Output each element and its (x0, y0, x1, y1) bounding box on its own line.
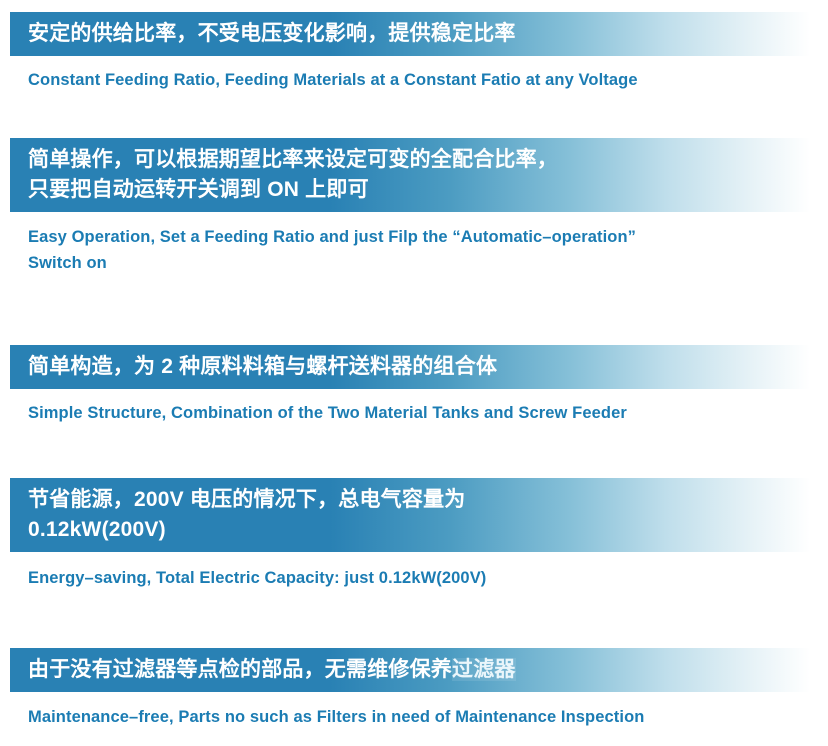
headline-line: 由于没有过滤器等点检的部品，无需维修保养过滤器 (28, 655, 810, 685)
headline-bar: 安定的供给比率，不受电压变化影响，提供稳定比率 (10, 12, 810, 56)
feature-subtitle-line: Easy Operation, Set a Feeding Ratio and … (28, 224, 828, 250)
feature-subtitle: Easy Operation, Set a Feeding Ratio and … (28, 224, 828, 276)
headline-line: 简单构造，为 2 种原料料箱与螺杆送料器的组合体 (28, 352, 810, 382)
feature-block-energy-saving: 节省能源，200V 电压的情况下，总电气容量为 0.12kW(200V) Ene… (0, 478, 828, 591)
headline-line: 安定的供给比率，不受电压变化影响，提供稳定比率 (28, 19, 810, 49)
headline-trailing-faded-text: 过滤器 (452, 658, 516, 681)
feature-block-constant-feeding-ratio: 安定的供给比率，不受电压变化影响，提供稳定比率 Constant Feeding… (0, 12, 828, 93)
headline-line: 只要把自动运转开关调到 ON 上即可 (28, 175, 810, 205)
headline-line: 节省能源，200V 电压的情况下，总电气容量为 (28, 485, 810, 515)
headline-bar: 由于没有过滤器等点检的部品，无需维修保养过滤器 (10, 648, 810, 692)
feature-block-simple-structure: 简单构造，为 2 种原料料箱与螺杆送料器的组合体 Simple Structur… (0, 345, 828, 426)
headline-bar: 简单构造，为 2 种原料料箱与螺杆送料器的组合体 (10, 345, 810, 389)
feature-list: 安定的供给比率，不受电压变化影响，提供稳定比率 Constant Feeding… (0, 0, 828, 746)
feature-subtitle: Simple Structure, Combination of the Two… (28, 400, 828, 426)
feature-block-easy-operation: 简单操作，可以根据期望比率来设定可变的全配合比率， 只要把自动运转开关调到 ON… (0, 138, 828, 276)
feature-subtitle: Maintenance–free, Parts no such as Filte… (28, 704, 828, 730)
feature-subtitle-line: Switch on (28, 250, 828, 276)
headline-line: 0.12kW(200V) (28, 515, 810, 545)
headline-bar: 节省能源，200V 电压的情况下，总电气容量为 0.12kW(200V) (10, 478, 810, 552)
feature-block-maintenance-free: 由于没有过滤器等点检的部品，无需维修保养过滤器 Maintenance–free… (0, 648, 828, 730)
feature-subtitle: Energy–saving, Total Electric Capacity: … (28, 565, 828, 591)
headline-line: 简单操作，可以根据期望比率来设定可变的全配合比率， (28, 145, 810, 175)
headline-bar: 简单操作，可以根据期望比率来设定可变的全配合比率， 只要把自动运转开关调到 ON… (10, 138, 810, 212)
headline-text: 由于没有过滤器等点检的部品，无需维修保养 (28, 658, 452, 681)
feature-subtitle: Constant Feeding Ratio, Feeding Material… (28, 67, 828, 93)
